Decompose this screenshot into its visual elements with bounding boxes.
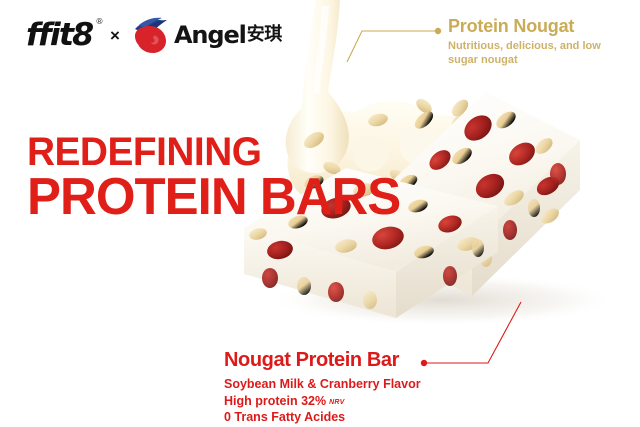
- callout-bar-title: Nougat Protein Bar: [224, 350, 421, 370]
- almond-slice: [472, 239, 484, 257]
- feature-protein: High protein 32%NRV: [224, 393, 421, 410]
- promotional-poster: ffit8® × Angel 安琪 REDEFINING PROTEIN BAR…: [0, 0, 640, 427]
- feature-trans-fat: 0 Trans Fatty Acides: [224, 409, 421, 426]
- angel-wordmark-chinese: 安琪: [247, 26, 282, 44]
- headline-line-2: PROTEIN BARS: [27, 173, 400, 223]
- callout-protein-nougat: Protein Nougat Nutritious, delicious, an…: [448, 17, 636, 67]
- almond-slice: [363, 291, 377, 309]
- cranberry: [550, 163, 566, 185]
- feature-flavor: Soybean Milk & Cranberry Flavor: [224, 376, 421, 393]
- leader-dot-bar-icon: [421, 360, 427, 366]
- callout-nougat-protein-bar: Nougat Protein Bar Soybean Milk & Cranbe…: [224, 350, 421, 426]
- brand-lockup: ffit8® × Angel 安琪: [26, 17, 282, 53]
- almond-slice: [297, 277, 311, 295]
- headline-line-1: REDEFINING: [27, 133, 396, 171]
- callout-nougat-description: Nutritious, delicious, and low sugar nou…: [448, 40, 608, 68]
- page-title: REDEFINING PROTEIN BARS: [27, 133, 408, 223]
- nrv-superscript: NRV: [329, 399, 344, 406]
- angel-wordmark: Angel: [174, 23, 246, 47]
- almond-slice: [528, 199, 540, 217]
- callout-nougat-title: Protein Nougat: [448, 17, 636, 36]
- angel-swirl-icon: [129, 17, 171, 53]
- cranberry: [262, 268, 278, 288]
- ffit8-wordmark: ffit8: [26, 17, 92, 53]
- cranberry: [443, 266, 457, 286]
- ffit8-logo: ffit8®: [26, 20, 92, 51]
- registered-trademark-icon: ®: [95, 18, 103, 26]
- feature-protein-text: High protein 32%: [224, 394, 326, 408]
- collaboration-cross-icon: ×: [110, 27, 120, 44]
- cranberry: [503, 220, 517, 240]
- angel-logo: Angel 安琪: [129, 17, 282, 53]
- cranberry: [328, 282, 344, 302]
- callout-bar-feature-list: Soybean Milk & Cranberry Flavor High pro…: [224, 376, 421, 426]
